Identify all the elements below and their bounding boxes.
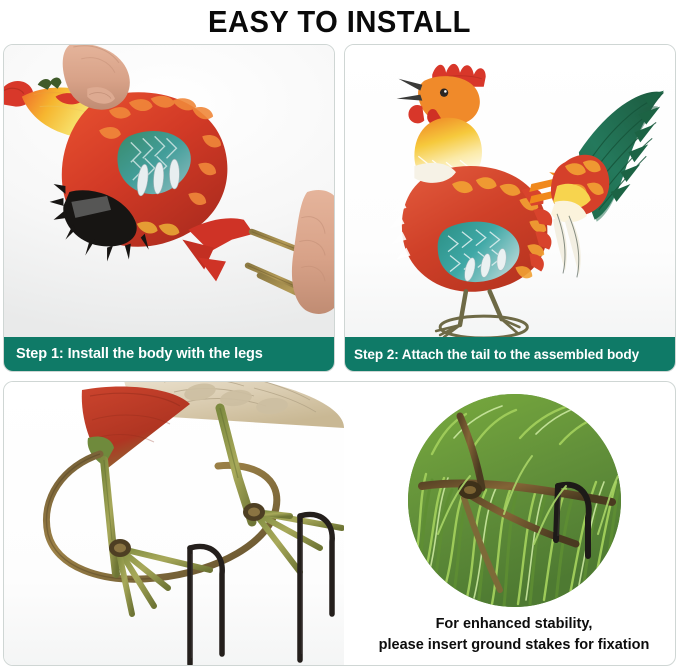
stability-note: For enhanced stability, please insert gr… [356,614,672,656]
grass-circle-inset [408,394,621,607]
step-panel-2: Step 2: Attach the tail to the assembled… [344,44,676,372]
step-2-photo [345,45,675,337]
rooster-body-legs-illustration [4,45,334,337]
step-1-photo [4,45,334,337]
stability-note-line-1: For enhanced stability, [356,614,672,635]
step-2-caption: Step 2: Attach the tail to the assembled… [345,337,675,371]
assembled-rooster-and-tail-illustration [345,45,675,337]
bottom-panel: For enhanced stability, please insert gr… [3,381,676,666]
step-panel-1: Step 1: Install the body with the legs [3,44,335,372]
steps-row: Step 1: Install the body with the legs [0,44,679,374]
step-1-caption: Step 1: Install the body with the legs [4,337,334,371]
stability-note-line-2: please insert ground stakes for fixation [356,635,672,656]
page-title: EASY TO INSTALL [20,0,658,44]
legs-closeup-photo [4,382,344,666]
stakes-in-grass-illustration [408,394,621,607]
rooster-legs-with-stakes-illustration [4,382,344,666]
